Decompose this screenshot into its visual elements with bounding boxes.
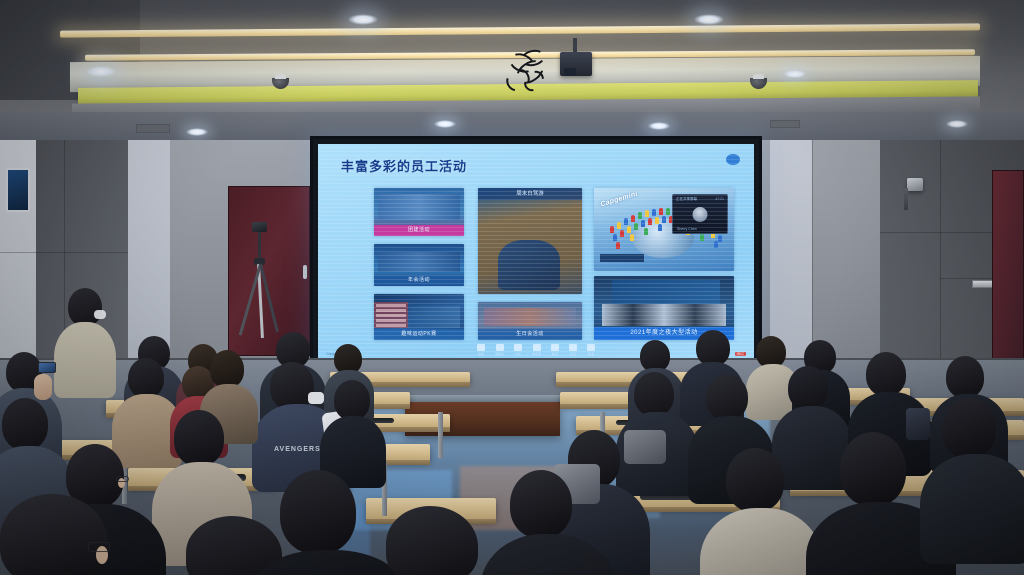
head: [946, 356, 984, 398]
projection-screen[interactable]: 丰富多彩的员工活动 团建活动 年会活动 趣味运动PK赛 周末白驾游: [310, 136, 762, 368]
slide-photo-3: 趣味运动PK赛: [374, 294, 464, 340]
head: [726, 448, 784, 512]
ceiling-vent: [136, 124, 170, 133]
torso: [920, 454, 1024, 564]
head: [510, 470, 572, 538]
photo-overlay-text: [374, 302, 408, 328]
downlight-icon: [694, 14, 724, 25]
toolbar-label: 摄像头: [495, 352, 504, 356]
head: [696, 330, 730, 366]
backpack: [624, 430, 666, 464]
sleeve: [906, 408, 930, 440]
downlight-icon: [946, 120, 968, 128]
head: [634, 372, 674, 416]
face-mask: [94, 310, 106, 319]
downlight-icon: [434, 120, 456, 128]
head: [174, 410, 224, 466]
downlight-icon: [784, 70, 806, 78]
head: [270, 362, 314, 410]
slide-photo-4: 周末白驾游: [478, 188, 582, 294]
toolbar-label: 聊天: [552, 352, 558, 356]
toolbar-mic-button[interactable]: 静音: [477, 344, 485, 356]
glasses-icon: [116, 476, 129, 482]
head: [128, 358, 164, 398]
toolbar-chat-button[interactable]: 聊天: [551, 344, 559, 356]
slide-title: 丰富多彩的员工活动: [341, 156, 467, 175]
head: [2, 398, 48, 450]
panel-seam: [0, 252, 128, 253]
head: [942, 398, 996, 458]
toolbar-label: 静音: [478, 352, 484, 356]
toolbar-reactions-button[interactable]: 反应: [569, 344, 577, 356]
head: [840, 432, 906, 506]
camera-body-icon: [252, 222, 267, 232]
head: [334, 380, 370, 420]
mic-icon: [477, 344, 485, 351]
call-tile-header: 正在共享屏幕: [676, 197, 697, 202]
lecture-hall-door-right[interactable]: [992, 170, 1024, 370]
slide-photo-6: Capgemini 正在共享屏幕 47:21 Sherry Chen: [594, 188, 734, 271]
call-tile-timer: 47:21: [715, 197, 724, 201]
video-call-tile[interactable]: 正在共享屏幕 47:21 Sherry Chen: [672, 194, 728, 234]
toolbar-label: 反应: [570, 352, 576, 356]
toolbar-more-button[interactable]: 更多: [587, 344, 595, 356]
toolbar-label: 共享: [515, 352, 521, 356]
avatar: [693, 207, 708, 222]
smartphone[interactable]: [38, 362, 56, 373]
toolbar-participants-button[interactable]: 参与者: [532, 344, 541, 356]
glasses-icon: [88, 542, 110, 552]
photo-caption: 年会活动: [374, 275, 464, 286]
presentation-slide: 丰富多彩的员工活动 团建活动 年会活动 趣味运动PK赛 周末白驾游: [318, 144, 754, 360]
downlight-icon: [648, 122, 670, 130]
toolbar-share-button[interactable]: 共享: [514, 344, 522, 356]
chat-icon: [551, 344, 559, 351]
door-handle-icon[interactable]: [303, 265, 307, 279]
photo-caption: 趣味运动PK赛: [374, 329, 464, 340]
panel-seam: [940, 140, 941, 390]
projector-lens-icon: [564, 68, 576, 76]
slide-photo-5: 生日会活动: [478, 302, 582, 340]
reactions-icon: [569, 344, 577, 351]
toolbar-label: 参与者: [532, 352, 541, 356]
slide-footer-right: REC: [735, 352, 746, 356]
slide-corner-accent-icon: [726, 154, 740, 165]
head: [280, 470, 356, 554]
downlight-icon: [86, 66, 116, 77]
head: [866, 352, 906, 396]
head: [210, 350, 244, 388]
tripod-column: [258, 232, 261, 260]
camera-icon: [495, 344, 503, 351]
more-icon: [587, 344, 595, 351]
desk-leg: [438, 412, 443, 458]
downlight-icon: [186, 128, 208, 136]
slide-photo-2: 年会活动: [374, 244, 464, 286]
toolbar-camera-button[interactable]: 摄像头: [495, 344, 504, 356]
torso: [54, 322, 116, 398]
head: [788, 366, 828, 410]
hoodie-graphic-text: AVENGERS: [274, 446, 321, 453]
slide-photo-1: 团建活动: [374, 188, 464, 236]
photo-overlay-badge: [600, 254, 644, 262]
photo-caption: 团建活动: [374, 225, 464, 236]
photo-caption: 生日会活动: [478, 329, 582, 340]
lecture-hall-scene: 丰富多彩的员工活动 团建活动 年会活动 趣味运动PK赛 周末白驾游: [0, 0, 1024, 575]
projector-cables: [505, 48, 565, 96]
downlight-icon: [348, 14, 378, 25]
face-mask: [308, 392, 324, 404]
call-tile-participant: Sherry Chen: [677, 227, 697, 231]
toolbar-label: 更多: [588, 352, 594, 356]
meeting-toolbar[interactable]: 静音 摄像头 共享 参与者 聊天: [477, 344, 595, 356]
head: [706, 374, 748, 420]
wall-monitor[interactable]: [6, 168, 30, 212]
share-icon: [514, 344, 522, 351]
participants-icon: [533, 344, 541, 351]
ceiling-vent: [770, 120, 800, 128]
photo-caption: 周末白驾游: [478, 188, 582, 200]
hand: [34, 374, 52, 400]
wall-speaker: [907, 178, 923, 191]
head: [68, 288, 102, 326]
